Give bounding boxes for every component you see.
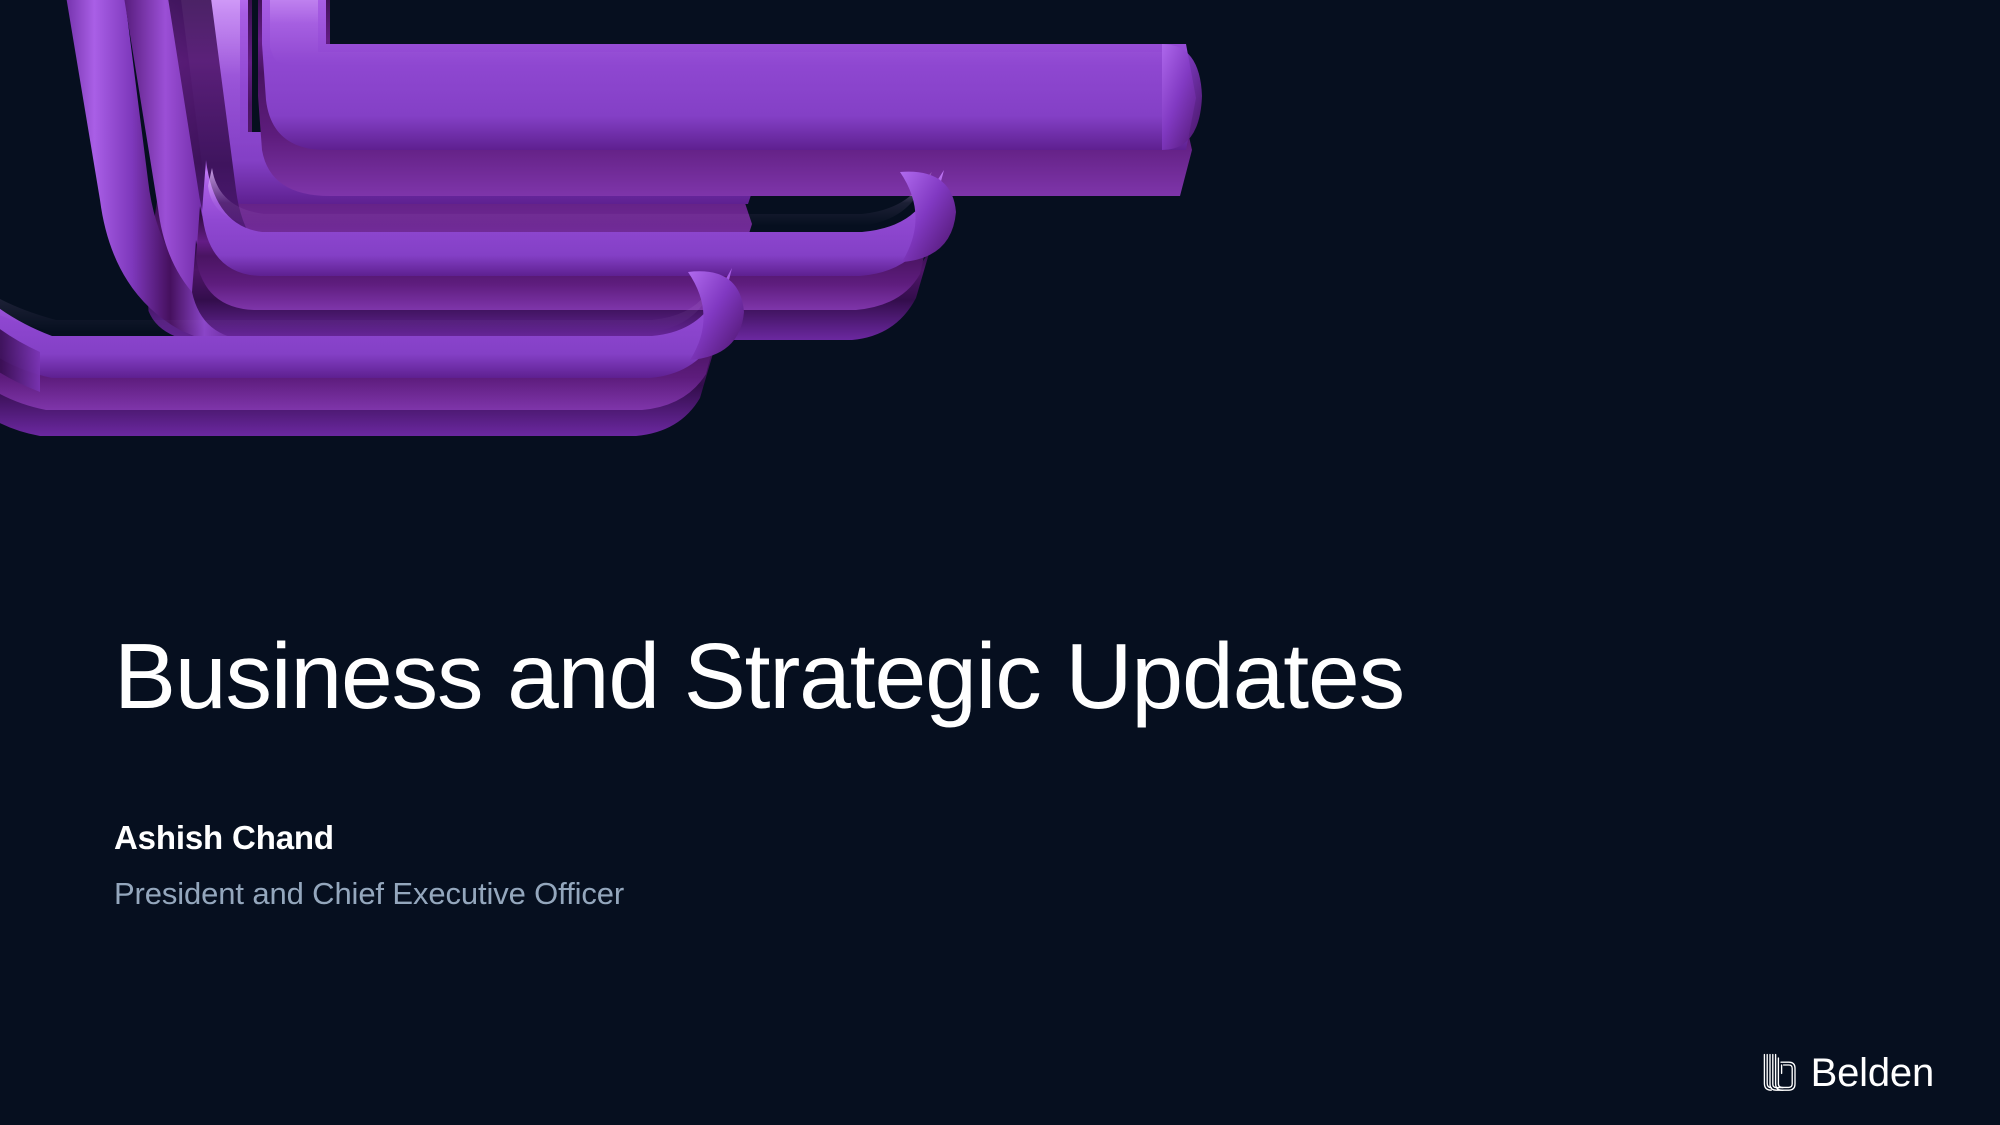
slide-text-block: Business and Strategic Updates Ashish Ch… (114, 628, 1714, 912)
belden-wordmark: Belden (1811, 1053, 1934, 1093)
presenter-role: President and Chief Executive Officer (114, 857, 1714, 912)
presentation-slide: Business and Strategic Updates Ashish Ch… (0, 0, 2000, 1125)
belden-logomark-icon (1761, 1053, 1799, 1093)
presenter-name: Ashish Chand (114, 726, 1714, 858)
belden-logo: Belden (1761, 1053, 1934, 1093)
belden-logomark-3d-artwork (0, 0, 1250, 600)
page-title: Business and Strategic Updates (114, 628, 1714, 726)
